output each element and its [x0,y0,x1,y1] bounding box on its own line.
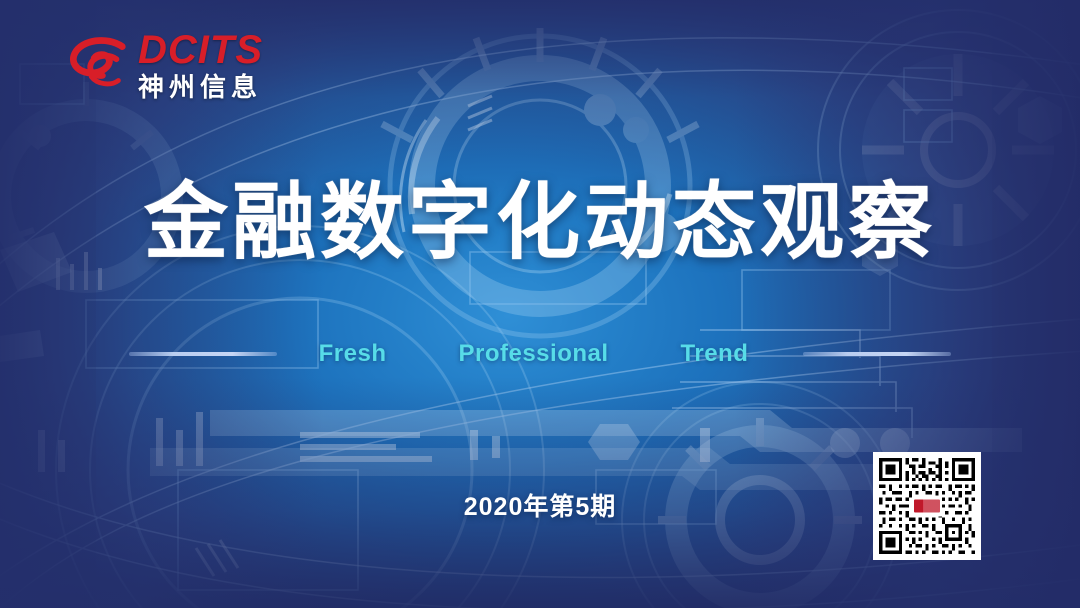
tagline-fresh: Fresh [319,340,387,368]
tagline-professional: Professional [458,340,608,368]
tagline-rule-left [129,352,277,356]
tagline-group: Fresh Professional Trend [319,340,749,368]
brand-logo: DCITS 神州信息 [68,30,263,100]
qr-center-logo [912,496,942,517]
dcits-swirl-logo-icon [68,34,130,96]
tagline-row: Fresh Professional Trend [0,340,1080,368]
presentation-cover-slide: DCITS 神州信息 金融数字化动态观察 Fresh Professional … [0,0,1080,608]
wechat-qr-code[interactable] [873,452,981,560]
page-title: 金融数字化动态观察 [0,178,1080,266]
brand-name-cn: 神州信息 [138,74,263,100]
tagline-trend: Trend [681,340,749,368]
tagline-rule-right [803,352,951,356]
dcits-mini-logo-icon [914,500,940,513]
brand-name-en: DCITS [138,30,263,70]
